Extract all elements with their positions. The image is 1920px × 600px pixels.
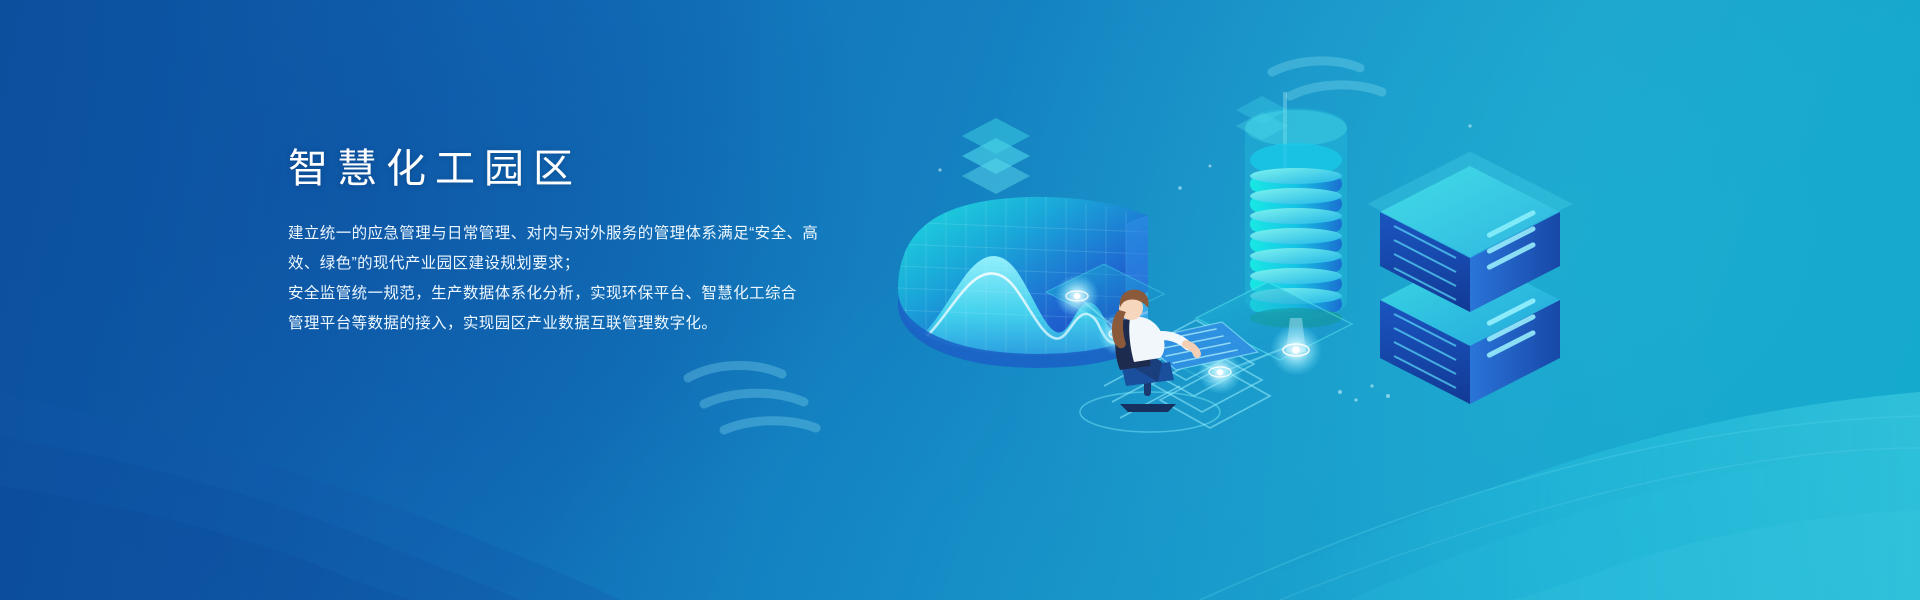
data-dots: [938, 124, 1471, 401]
hero-banner: 智慧化工园区 建立统一的应急管理与日常管理、对内与对外服务的管理体系满足“安全、…: [0, 0, 1920, 600]
seated-woman-with-keyboard: [1080, 290, 1258, 432]
description-line: 安全监管统一规范，生产数据体系化分析，实现环保平台、智慧化工综合: [288, 279, 888, 309]
isometric-grid-lines: [1104, 320, 1270, 428]
curved-dashboard-screen: [898, 194, 1148, 368]
glow-nodes: [1055, 274, 1322, 394]
floating-data-layers: [962, 96, 1288, 194]
description-line: 建立统一的应急管理与日常管理、对内与对外服务的管理体系满足“安全、高: [288, 219, 888, 249]
stacked-server-cylinder: [1245, 92, 1347, 352]
background-wave-bands-left: [0, 392, 620, 600]
hero-copy: 智慧化工园区 建立统一的应急管理与日常管理、对内与对外服务的管理体系满足“安全、…: [288, 145, 888, 339]
description-line: 管理平台等数据的接入，实现园区产业数据互联管理数字化。: [288, 309, 888, 339]
server-disc-stack: [1250, 168, 1342, 312]
description-line: 效、绿色”的现代产业园区建设规划要求；: [288, 249, 888, 279]
background-wave-bands-right: [1200, 392, 1920, 600]
data-rain-lines: [1335, 58, 1437, 156]
background-glow-top-right: [920, 0, 1920, 600]
hero-description: 建立统一的应急管理与日常管理、对内与对外服务的管理体系满足“安全、高 效、绿色”…: [288, 219, 888, 339]
isometric-floor-plates: [1046, 264, 1352, 382]
chair: [1120, 362, 1176, 412]
server-rack-right: [1368, 152, 1572, 404]
keyboard-icon: [1140, 322, 1258, 370]
page-title: 智慧化工园区: [288, 145, 888, 193]
